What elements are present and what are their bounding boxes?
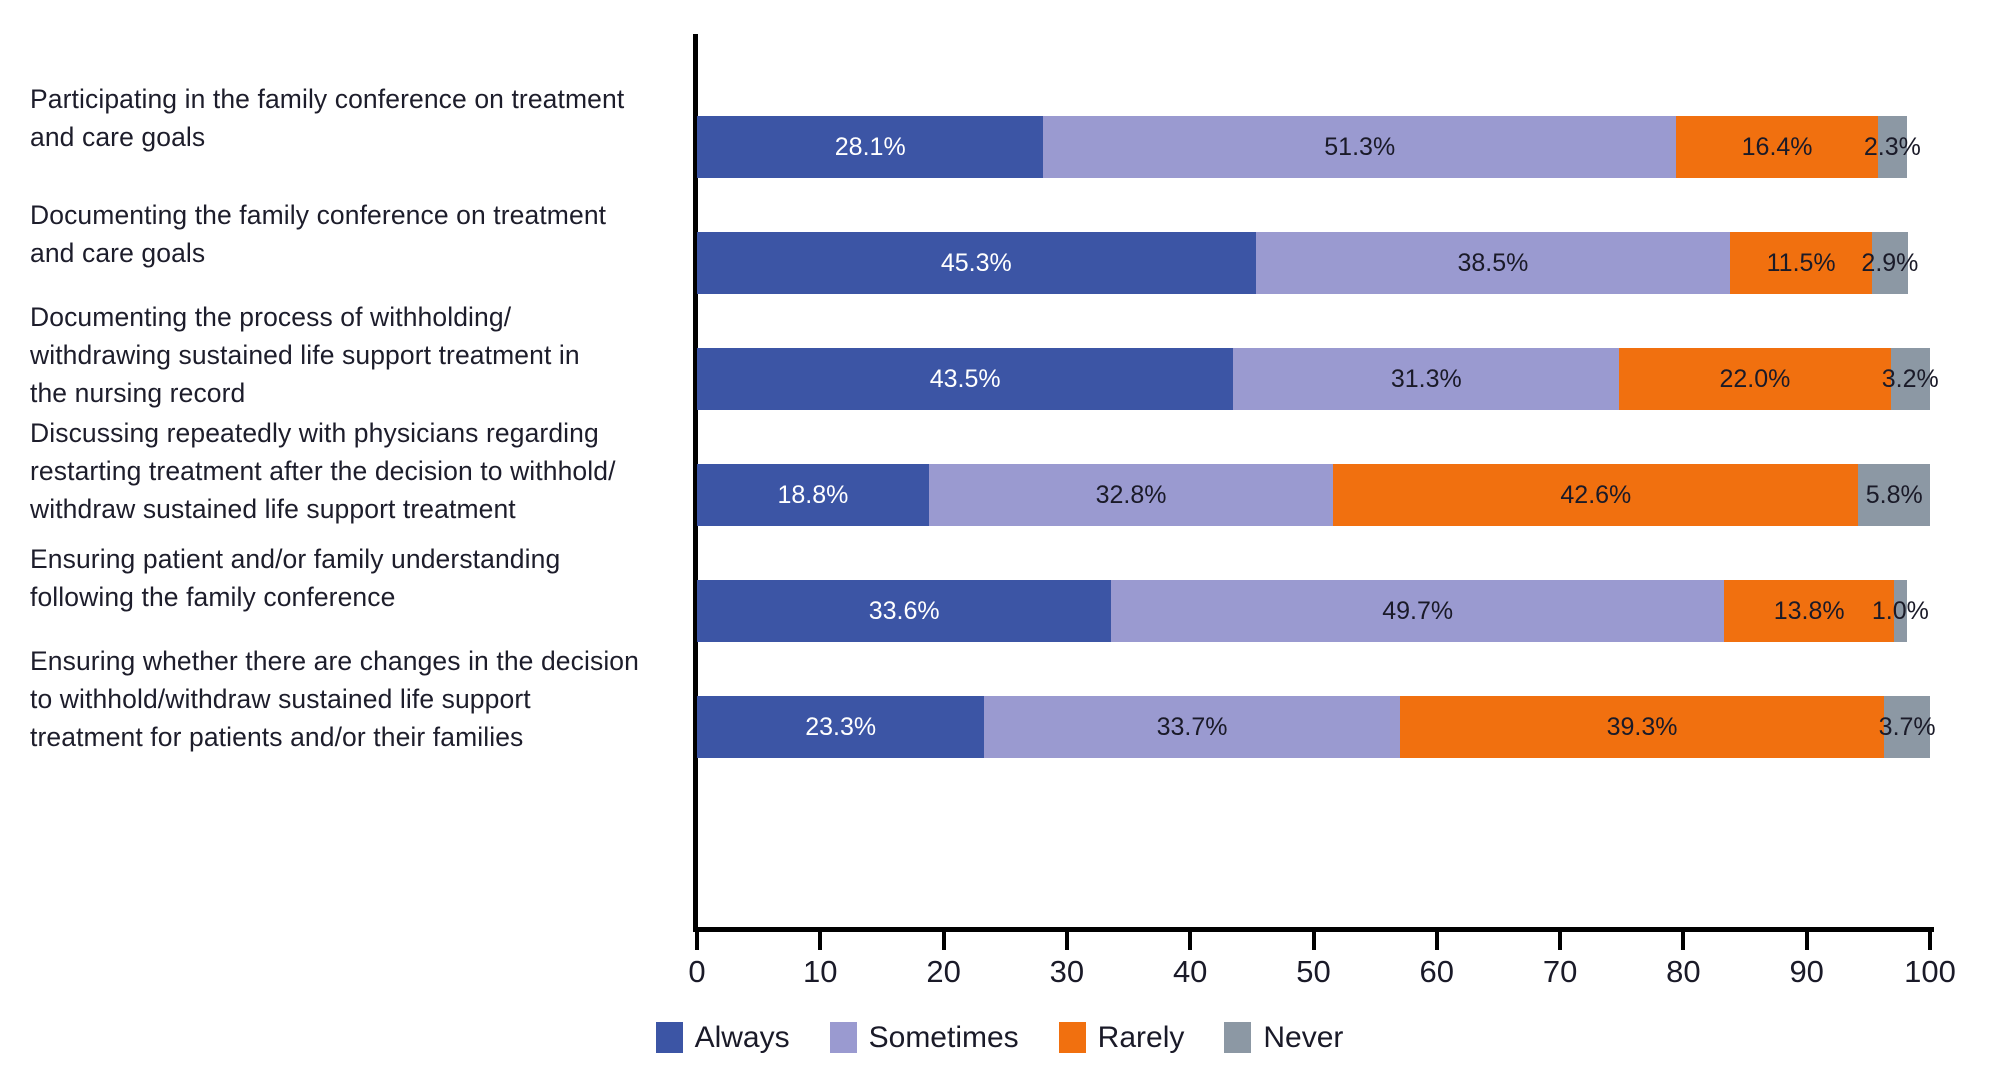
bar-segment-value: 49.7% xyxy=(1382,599,1453,624)
bar-segment-always[interactable]: 28.1% xyxy=(697,116,1043,178)
bar-segment-sometimes[interactable]: 49.7% xyxy=(1111,580,1724,642)
category-label-column: Participating in the family conference o… xyxy=(0,0,690,930)
bar-segment-value: 1.0% xyxy=(1872,599,1929,624)
bar-segment-value: 33.6% xyxy=(869,599,940,624)
x-axis-tick-label: 60 xyxy=(1420,952,1454,992)
category-label: Ensuring whether there are changes in th… xyxy=(30,642,680,756)
x-axis-tick-label: 80 xyxy=(1666,952,1700,992)
bar-segment-value: 23.3% xyxy=(805,715,876,740)
bar-segment-sometimes[interactable]: 33.7% xyxy=(984,696,1400,758)
bar-segment-rarely[interactable]: 39.3% xyxy=(1400,696,1885,758)
bar-segment-never[interactable]: 5.8% xyxy=(1858,464,1930,526)
legend-item-sometimes[interactable]: Sometimes xyxy=(830,1022,1019,1053)
bar-segment-value: 33.7% xyxy=(1157,715,1228,740)
bar-segment-rarely[interactable]: 16.4% xyxy=(1676,116,1878,178)
bar-row: 23.3%33.7%39.3%3.7% xyxy=(697,696,1930,758)
legend-item-rarely[interactable]: Rarely xyxy=(1059,1022,1185,1053)
bar-segment-value: 3.2% xyxy=(1882,367,1939,392)
category-label: Discussing repeatedly with physicians re… xyxy=(30,414,680,528)
x-axis-tick-label: 40 xyxy=(1173,952,1207,992)
x-axis-tick xyxy=(1558,932,1562,950)
chart-legend: AlwaysSometimesRarelyNever xyxy=(0,1022,1999,1053)
legend-swatch-icon xyxy=(1224,1022,1251,1053)
legend-item-never[interactable]: Never xyxy=(1224,1022,1343,1053)
category-label: Participating in the family conference o… xyxy=(30,80,680,156)
bar-segment-value: 28.1% xyxy=(835,135,906,160)
x-axis-tick-label: 50 xyxy=(1296,952,1330,992)
bar-segment-never[interactable]: 3.2% xyxy=(1891,348,1930,410)
bar-segment-always[interactable]: 33.6% xyxy=(697,580,1111,642)
x-axis-tick-label: 20 xyxy=(926,952,960,992)
bar-segment-always[interactable]: 18.8% xyxy=(697,464,929,526)
bar-segment-never[interactable]: 2.3% xyxy=(1878,116,1906,178)
legend-label: Rarely xyxy=(1098,1023,1185,1053)
plot-area: 28.1%51.3%16.4%2.3%45.3%38.5%11.5%2.9%43… xyxy=(697,34,1930,930)
bar-segment-value: 32.8% xyxy=(1096,483,1167,508)
bar-segment-rarely[interactable]: 13.8% xyxy=(1724,580,1894,642)
category-label: Ensuring patient and/or family understan… xyxy=(30,540,680,616)
x-axis-tick-labels: 0102030405060708090100 xyxy=(697,952,1930,996)
bar-segment-value: 51.3% xyxy=(1324,135,1395,160)
bar-segment-value: 45.3% xyxy=(941,251,1012,276)
bar-segment-value: 5.8% xyxy=(1866,483,1923,508)
bar-segment-value: 38.5% xyxy=(1457,251,1528,276)
bar-segment-never[interactable]: 3.7% xyxy=(1884,696,1930,758)
legend-label: Always xyxy=(695,1023,790,1053)
bar-segment-value: 16.4% xyxy=(1742,135,1813,160)
x-axis-ticks xyxy=(697,932,1930,952)
x-axis-tick xyxy=(1065,932,1069,950)
bar-segment-sometimes[interactable]: 51.3% xyxy=(1043,116,1676,178)
bar-segment-rarely[interactable]: 11.5% xyxy=(1730,232,1872,294)
category-label: Documenting the family conference on tre… xyxy=(30,196,680,272)
bar-segment-value: 22.0% xyxy=(1719,367,1790,392)
bar-segment-sometimes[interactable]: 31.3% xyxy=(1233,348,1619,410)
bar-segment-value: 43.5% xyxy=(930,367,1001,392)
legend-label: Sometimes xyxy=(869,1023,1019,1053)
bar-segment-sometimes[interactable]: 38.5% xyxy=(1256,232,1731,294)
legend-swatch-icon xyxy=(1059,1022,1086,1053)
bar-segment-always[interactable]: 23.3% xyxy=(697,696,984,758)
bar-segment-never[interactable]: 1.0% xyxy=(1894,580,1906,642)
x-axis-tick-label: 10 xyxy=(803,952,837,992)
x-axis-tick-label: 90 xyxy=(1789,952,1823,992)
bar-segment-sometimes[interactable]: 32.8% xyxy=(929,464,1333,526)
x-axis-tick xyxy=(1435,932,1439,950)
category-label: Documenting the process of withholding/ … xyxy=(30,298,680,412)
bar-segment-value: 3.7% xyxy=(1879,715,1936,740)
x-axis-tick-label: 70 xyxy=(1543,952,1577,992)
legend-swatch-icon xyxy=(656,1022,683,1053)
bar-row: 18.8%32.8%42.6%5.8% xyxy=(697,464,1930,526)
x-axis-tick xyxy=(1681,932,1685,950)
bar-segment-value: 11.5% xyxy=(1767,251,1836,276)
x-axis-tick xyxy=(1805,932,1809,950)
x-axis-tick-label: 0 xyxy=(688,952,705,992)
bar-segment-value: 2.9% xyxy=(1861,251,1918,276)
bar-segment-always[interactable]: 43.5% xyxy=(697,348,1233,410)
bar-segment-always[interactable]: 45.3% xyxy=(697,232,1256,294)
x-axis-tick xyxy=(1312,932,1316,950)
x-axis-tick-label: 100 xyxy=(1904,952,1956,992)
bar-segment-value: 31.3% xyxy=(1391,367,1462,392)
bar-segment-value: 42.6% xyxy=(1560,483,1631,508)
legend-item-always[interactable]: Always xyxy=(656,1022,790,1053)
legend-swatch-icon xyxy=(830,1022,857,1053)
bar-segment-value: 39.3% xyxy=(1607,715,1678,740)
bar-row: 33.6%49.7%13.8%1.0% xyxy=(697,580,1930,642)
bar-row: 28.1%51.3%16.4%2.3% xyxy=(697,116,1930,178)
bar-segment-rarely[interactable]: 42.6% xyxy=(1333,464,1858,526)
legend-label: Never xyxy=(1263,1023,1343,1053)
bar-row: 45.3%38.5%11.5%2.9% xyxy=(697,232,1930,294)
bar-segment-never[interactable]: 2.9% xyxy=(1872,232,1908,294)
bar-segment-value: 2.3% xyxy=(1864,135,1921,160)
x-axis-tick-label: 30 xyxy=(1050,952,1084,992)
bar-segment-value: 18.8% xyxy=(777,483,848,508)
bar-row: 43.5%31.3%22.0%3.2% xyxy=(697,348,1930,410)
x-axis-tick xyxy=(1188,932,1192,950)
x-axis-tick xyxy=(818,932,822,950)
stacked-bar-chart: Participating in the family conference o… xyxy=(0,0,1999,1082)
bar-segment-rarely[interactable]: 22.0% xyxy=(1619,348,1890,410)
bar-segment-value: 13.8% xyxy=(1774,599,1845,624)
x-axis-tick xyxy=(695,932,699,950)
x-axis-tick xyxy=(942,932,946,950)
x-axis-tick xyxy=(1928,932,1932,950)
